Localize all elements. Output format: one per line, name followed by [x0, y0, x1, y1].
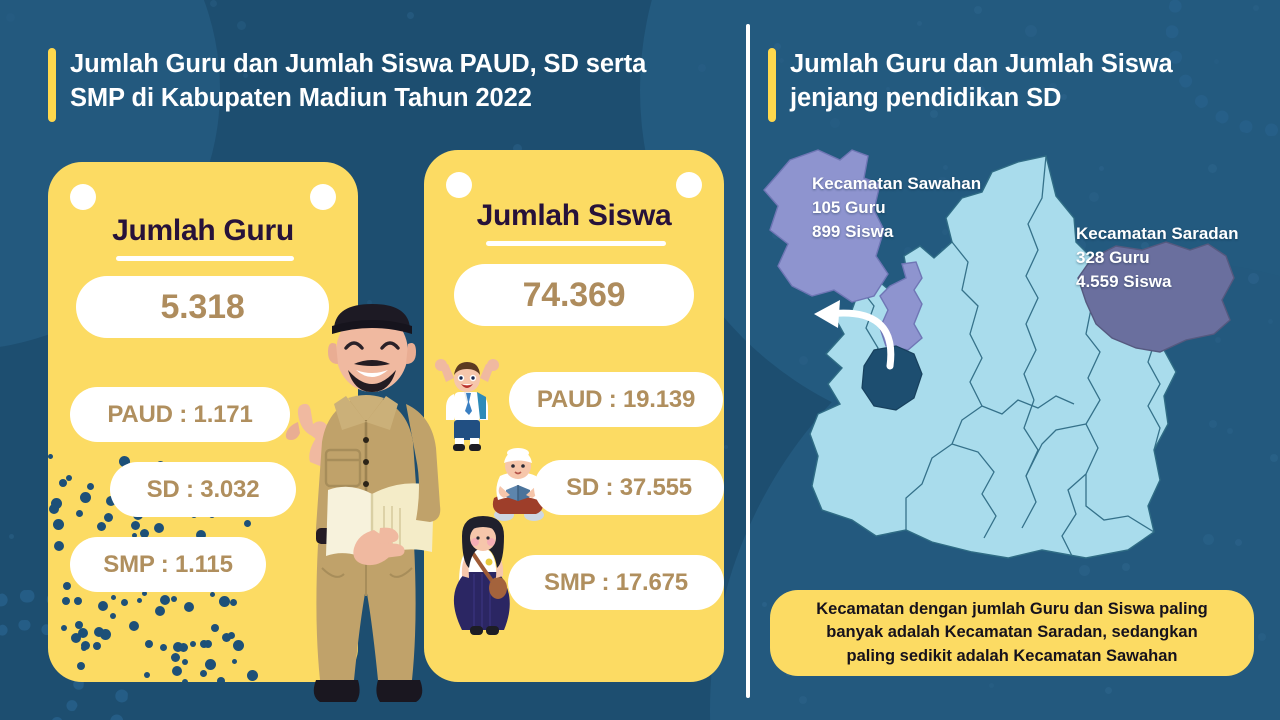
left-title-text: Jumlah Guru dan Jumlah Siswa PAUD, SD se… — [70, 48, 646, 122]
card-title-guru: Jumlah Guru — [48, 214, 358, 248]
panel-divider — [746, 24, 750, 698]
infographic-root: Jumlah Guru dan Jumlah Siswa PAUD, SD se… — [0, 0, 1280, 720]
guru-paud-pill: PAUD : 1.171 — [70, 387, 290, 442]
map-label-saradan: Kecamatan Saradan 328 Guru 4.559 Siswa — [1076, 222, 1239, 294]
card-pin-hole-left — [70, 184, 96, 210]
card-pin-hole-left — [446, 172, 472, 198]
right-panel-title: Jumlah Guru dan Jumlah Siswa jenjang pen… — [768, 48, 1173, 122]
card-pin-hole-right — [310, 184, 336, 210]
right-title-text: Jumlah Guru dan Jumlah Siswa jenjang pen… — [790, 48, 1173, 122]
map-caption-text: Kecamatan dengan jumlah Guru dan Siswa p… — [816, 598, 1208, 668]
map-caption-box: Kecamatan dengan jumlah Guru dan Siswa p… — [770, 590, 1254, 676]
guru-smp-pill: SMP : 1.115 — [70, 537, 266, 592]
card-title-underline — [116, 256, 294, 261]
left-panel-title: Jumlah Guru dan Jumlah Siswa PAUD, SD se… — [48, 48, 646, 122]
title-accent-bar-right — [768, 48, 776, 122]
siswa-paud-pill: PAUD : 19.139 — [509, 372, 723, 427]
card-title-siswa: Jumlah Siswa — [424, 199, 724, 233]
card-title-underline — [486, 241, 666, 246]
siswa-total-pill: 74.369 — [454, 264, 694, 326]
card-pin-hole-right — [676, 172, 702, 198]
title-accent-bar-left — [48, 48, 56, 122]
siswa-sd-pill: SD : 37.555 — [534, 460, 724, 515]
map-label-sawahan: Kecamatan Sawahan 105 Guru 899 Siswa — [812, 172, 981, 244]
teacher-illustration — [268, 300, 488, 720]
siswa-smp-pill: SMP : 17.675 — [508, 555, 724, 610]
dotted-ring-top-right — [1166, 0, 1280, 136]
